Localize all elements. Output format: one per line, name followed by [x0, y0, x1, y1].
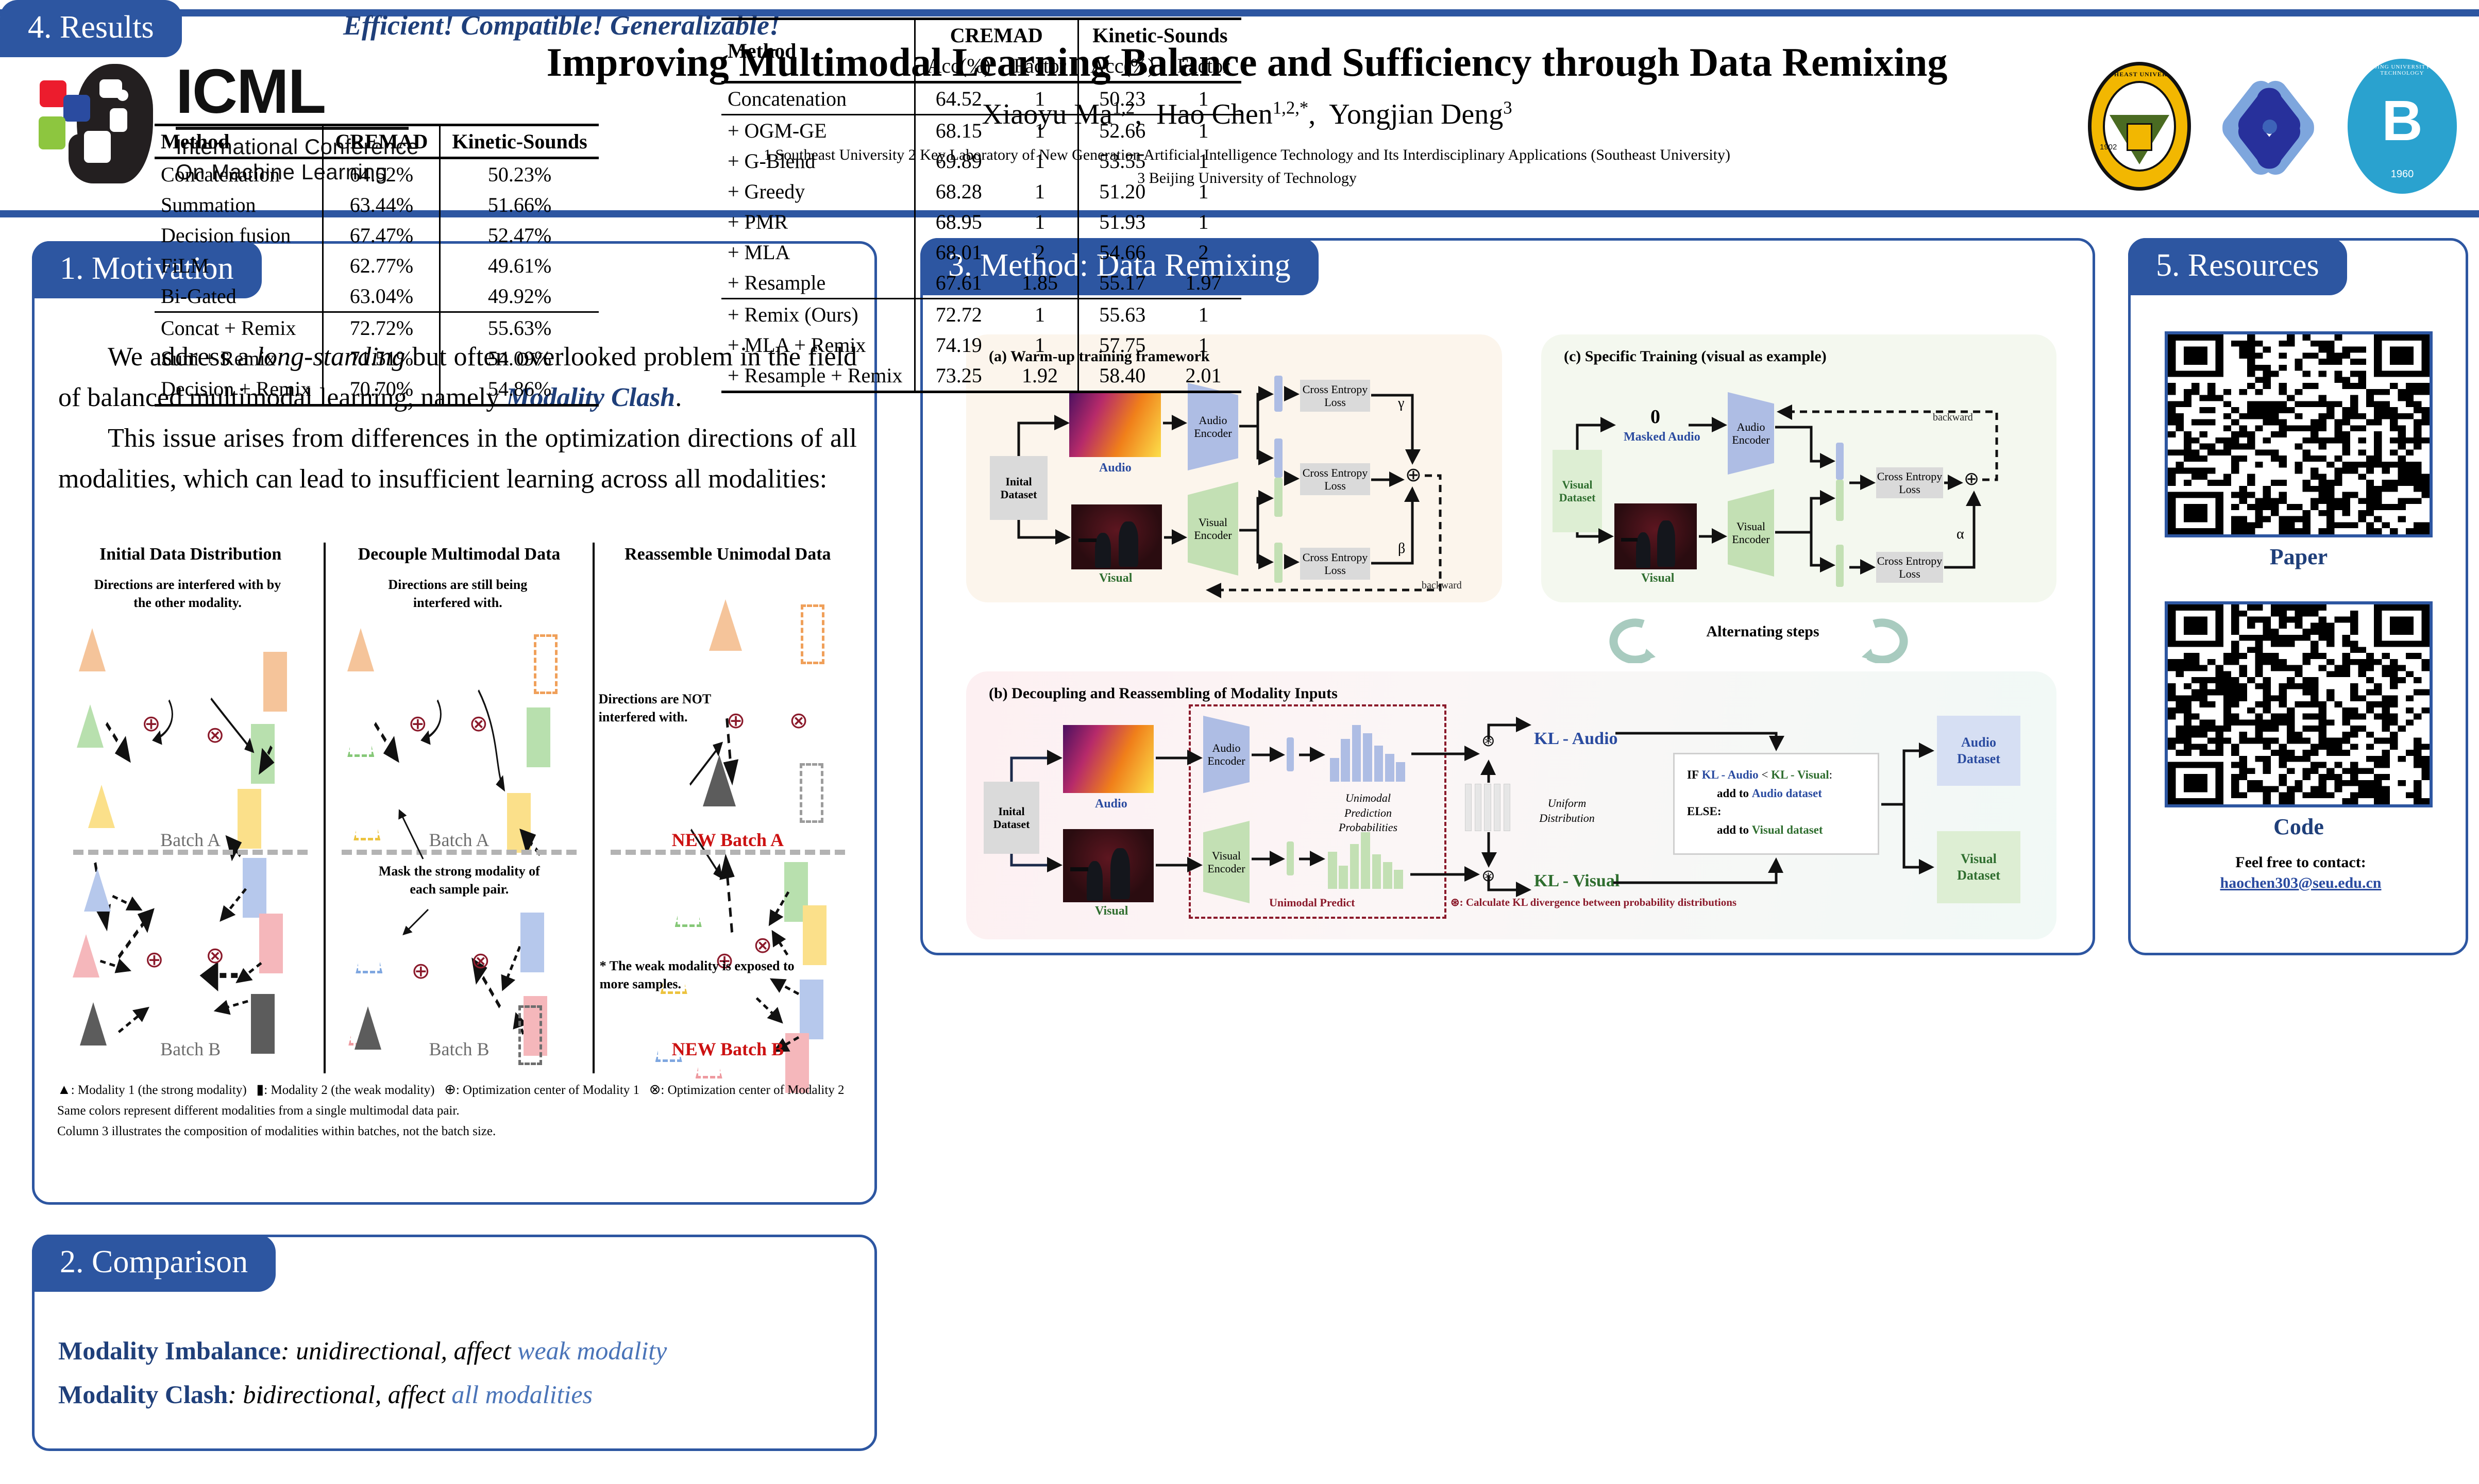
- diagram-b-kl-audio-label: KL - Audio: [1534, 729, 1618, 749]
- figure-column-header-3: Reassemble Unimodal Data: [595, 543, 861, 564]
- diagram-a-visual-encoder: Visual Encoder: [1188, 482, 1238, 576]
- histogram-bar: [1339, 866, 1348, 889]
- contact-block: Feel free to contact: haochen303@seu.edu…: [2151, 854, 2450, 892]
- table-row: Summation63.44%51.66%: [155, 190, 599, 220]
- diagram-b-kl-visual-label: KL - Visual: [1534, 871, 1620, 891]
- diagram-b-audio-spectrogram-image: [1063, 725, 1154, 793]
- diagram-a-loss-2: Cross Entropy Loss: [1300, 463, 1370, 495]
- table-row: + G-Blend69.89153.551: [721, 146, 1241, 176]
- diagram-b-audio-dataset: Audio Dataset: [1937, 716, 2020, 786]
- panel-resources: 5. Resources Paper Code Feel free to con…: [2128, 238, 2468, 955]
- diagram-c-alpha: α: [1957, 526, 1964, 543]
- panel-title-resources: 5. Resources: [2128, 238, 2347, 295]
- author-3: Yongjian Deng3: [1329, 98, 1512, 130]
- table-row: + PMR68.95151.931: [721, 207, 1241, 237]
- affiliations: 1 Southeast University 2 Key Laboratory …: [433, 143, 2061, 190]
- table2-subheader: Factor: [1002, 50, 1078, 82]
- panel-title-results: 4. Results: [0, 0, 182, 57]
- histogram-bar: [1383, 862, 1392, 889]
- legend-oplus-icon: ⊕: [444, 1082, 456, 1097]
- diagram-c-zero: 0: [1650, 406, 1660, 428]
- figure-note-3: Directions are NOT interfered with.: [599, 690, 717, 726]
- table1-header: CREMAD: [323, 125, 440, 158]
- uniform-bar: [1475, 784, 1481, 831]
- figure-batch-label-b2: Batch B: [326, 1038, 592, 1060]
- figure-legend-note-1: Same colors represent different modaliti…: [57, 1101, 861, 1121]
- figure-batch-label-a1: Batch A: [57, 829, 324, 851]
- diagram-a-visual-label: Visual: [1099, 571, 1132, 585]
- table-row: + Remix (Ours)72.72155.631: [721, 299, 1241, 330]
- table2-subheader: Acc(%): [1078, 50, 1166, 82]
- diagram-a-audio-encoder: Audio Encoder: [1188, 383, 1238, 470]
- table2-subheader: Acc(%): [915, 50, 1002, 82]
- affiliation-line-1: 1 Southeast University 2 Key Laboratory …: [433, 143, 2061, 166]
- diagram-b-visual-dataset: Visual Dataset: [1937, 831, 2020, 903]
- histogram-bar: [1330, 758, 1339, 782]
- legend-triangle-icon: ▲: [57, 1082, 71, 1097]
- panel-title-comparison: 2. Comparison: [32, 1235, 276, 1292]
- diagram-c-visual-label: Visual: [1641, 571, 1674, 585]
- diagram-a-backward-label: backward: [1422, 580, 1462, 592]
- histogram-bar: [1374, 746, 1384, 782]
- results-table-2: MethodCREMADKinetic-SoundsAcc(%)FactorAc…: [721, 18, 1241, 393]
- uniform-bar: [1484, 784, 1491, 831]
- motivation-paragraph-2: This issue arises from differences in th…: [58, 418, 857, 499]
- table1-header: Method: [155, 125, 323, 158]
- affiliation-line-2: 3 Beijing University of Technology: [433, 166, 2061, 190]
- table-row: Sum + Remix71.51%54.09%: [155, 343, 599, 374]
- histogram-bar: [1396, 762, 1405, 782]
- legend-otimes-icon: ⊗: [649, 1082, 661, 1097]
- kl-note-icon: ⊛: [1451, 896, 1460, 908]
- diagram-c-loss-1: Cross Entropy Loss: [1876, 467, 1943, 498]
- table1-header: Kinetic-Sounds: [440, 125, 599, 158]
- if-line-3: ELSE:: [1687, 802, 1865, 821]
- table2-group-header: CREMAD: [915, 19, 1078, 51]
- university-logos: SOUTHEAST UNIVERSITY 1902 BEIJING UNIVER…: [2077, 41, 2468, 211]
- results-table-1-wrapper: MethodCREMADKinetic-SoundsConcatenation6…: [155, 124, 599, 407]
- diagram-b-unimodal-predict-caption: Unimodal Predict: [1269, 896, 1355, 909]
- uniform-bar: [1494, 784, 1500, 831]
- diagram-b-uniform-caption: Uniform Distribution: [1521, 796, 1613, 825]
- diagram-c-audio-encoder: Audio Encoder: [1728, 392, 1774, 475]
- visual-photo-image: [1071, 504, 1162, 569]
- figure-legend-note-2: Column 3 illustrates the composition of …: [57, 1121, 861, 1142]
- if-line-4: add to Visual dataset: [1687, 821, 1865, 839]
- figure-note-3b: * The weak modality is exposed to more s…: [600, 957, 827, 993]
- figure-batch-label-b3: NEW Batch B: [595, 1038, 861, 1060]
- figure-column-header-1: Initial Data Distribution: [57, 543, 324, 564]
- histogram-bar: [1361, 832, 1370, 889]
- comparison-text: Modality Imbalance: unidirectional, affe…: [58, 1329, 862, 1416]
- diagram-specific-training: (c) Specific Training (visual as example…: [1541, 334, 2056, 602]
- figure-column-decouple: Decouple Multimodal Data Directions are …: [324, 543, 592, 1073]
- table-row: Bi-Gated63.04%49.92%: [155, 281, 599, 312]
- figure-column-header-2: Decouple Multimodal Data: [326, 543, 592, 564]
- table-row: + MLA68.01254.662: [721, 237, 1241, 267]
- table-row: FiLM62.77%49.61%: [155, 250, 599, 281]
- diagram-c-title: (c) Specific Training (visual as example…: [1564, 348, 1827, 365]
- audio-spectrogram-image: [1069, 391, 1161, 457]
- results-table-1: MethodCREMADKinetic-SoundsConcatenation6…: [155, 124, 599, 407]
- histogram-bar: [1385, 754, 1394, 782]
- diagram-a-loss-3: Cross Entropy Loss: [1300, 548, 1370, 580]
- diagram-a-beta: β: [1398, 541, 1405, 557]
- histogram-bar: [1363, 733, 1372, 782]
- diagram-b-audio-label: Audio: [1095, 797, 1127, 811]
- diagram-decoupling: (b) Decoupling and Reassembling of Modal…: [966, 671, 2056, 939]
- figure-note-1: Directions are interfered with by the ot…: [87, 576, 288, 612]
- table2-group-header: Kinetic-Sounds: [1078, 19, 1241, 51]
- legend-item-3: : Optimization center of Modality 1: [456, 1083, 639, 1097]
- legend-item-2: : Modality 2 (the weak modality): [264, 1083, 434, 1097]
- table-row: Concatenation64.52%50.23%: [155, 158, 599, 190]
- diagram-a-gamma: γ: [1398, 395, 1404, 412]
- diagram-b-title: (b) Decoupling and Reassembling of Modal…: [989, 685, 1338, 702]
- diagram-b-visual-encoder: Visual Encoder: [1203, 821, 1250, 903]
- table2-subheader: Factor: [1166, 50, 1241, 82]
- alternating-steps: Alternating steps: [1582, 616, 1943, 663]
- diagram-a-initial-dataset: Inital Dataset: [990, 456, 1048, 520]
- histogram-bar: [1328, 852, 1337, 889]
- diagram-c-loss-2: Cross Entropy Loss: [1876, 552, 1943, 583]
- if-line-2: add to Audio dataset: [1687, 784, 1865, 803]
- qr-code-label: Code: [2165, 814, 2433, 840]
- qr-bitmap: [2168, 334, 2430, 534]
- diagram-c-sum-icon: ⊕: [1964, 469, 1979, 488]
- diagram-a-audio-label: Audio: [1099, 461, 1132, 475]
- qr-code-repository[interactable]: [2165, 601, 2433, 807]
- icml-brain-icon: [39, 58, 167, 187]
- figure-divider-1: [73, 850, 308, 855]
- diagram-c-visual-encoder: Visual Encoder: [1728, 489, 1774, 577]
- paper-title: Improving Multimodal Learning Balance an…: [433, 40, 2061, 85]
- legend-rect-icon: ▮: [256, 1082, 264, 1097]
- contact-email-link[interactable]: haochen303@seu.edu.cn: [2151, 874, 2450, 892]
- legend-item-1: : Modality 1 (the strong modality): [71, 1083, 247, 1097]
- figure-note-2: Directions are still being interfered wi…: [365, 576, 550, 612]
- diagram-b-kl-note: ⊛: Calculate KL divergence between proba…: [1451, 896, 1736, 909]
- figure-note-2b: Mask the strong modality of each sample …: [369, 862, 549, 898]
- figure-column-reassemble: Reassemble Unimodal Data Directions are …: [593, 543, 861, 1073]
- diagram-b-unimodal-caption: Unimodal Prediction Probabilities: [1317, 791, 1420, 835]
- uniform-bar: [1465, 784, 1472, 831]
- alternating-steps-label: Alternating steps: [1582, 623, 1943, 640]
- diagram-c-backward-label: backward: [1933, 412, 1973, 424]
- diagram-b-audio-encoder: Audio Encoder: [1203, 716, 1250, 793]
- bjut-year: 1960: [2348, 168, 2457, 180]
- table-row: + MLA + Remix74.19157.751: [721, 330, 1241, 360]
- motivation-figure: Initial Data Distribution Directions are…: [57, 543, 861, 1187]
- comparison-row-2: Modality Clash: bidirectional, affect al…: [58, 1373, 862, 1416]
- diagram-c-visual-dataset: Visual Dataset: [1553, 450, 1602, 532]
- diagram-b-kl-op-icon-1: ⊛: [1481, 732, 1495, 749]
- qr-bitmap: [2168, 604, 2430, 804]
- figure-batch-label-a3: NEW Batch A: [595, 829, 861, 851]
- diagram-b-uniform-distribution-bars: [1464, 784, 1512, 831]
- comparison-row-1: Modality Imbalance: unidirectional, affe…: [58, 1329, 862, 1373]
- diagram-b-visual-label: Visual: [1095, 904, 1128, 918]
- uniform-bar: [1504, 784, 1510, 831]
- table-row: + Resample67.611.8555.171.97: [721, 267, 1241, 299]
- table-row: + Greedy68.28151.201: [721, 176, 1241, 207]
- qr-code-paper[interactable]: [2165, 331, 2433, 537]
- author-list: Xiaoyu Ma1,2, Hao Chen1,2,*, Yongjian De…: [433, 98, 2061, 131]
- table-row: Decision fusion67.47%52.47%: [155, 220, 599, 250]
- table2-method-header: Method: [721, 19, 915, 82]
- if-line-1: IF KL - Audio < KL - Visual:: [1687, 766, 1865, 784]
- diagram-c-masked-audio-label: Masked Audio: [1624, 430, 1700, 444]
- histogram-bar: [1341, 739, 1350, 782]
- diagram-c-visual-photo-image: [1614, 503, 1697, 569]
- figure-column-initial: Initial Data Distribution Directions are…: [57, 543, 324, 1073]
- diagram-a-loss-1: Cross Entropy Loss: [1300, 380, 1370, 412]
- contact-prompt: Feel free to contact:: [2151, 854, 2450, 871]
- results-table-2-wrapper: MethodCREMADKinetic-SoundsAcc(%)FactorAc…: [721, 18, 1241, 393]
- poster-root: ICML International Conference On Machine…: [0, 0, 2479, 1484]
- icml-acronym: ICML: [176, 60, 419, 123]
- panel-comparison: 2. Comparison Modality Imbalance: unidir…: [32, 1235, 877, 1451]
- seal-year: 1902: [2100, 143, 2117, 151]
- figure-batch-label-a2: Batch A: [326, 829, 592, 851]
- diagram-b-initial-dataset: Inital Dataset: [984, 782, 1039, 854]
- qr-paper-label: Paper: [2165, 544, 2433, 570]
- diagram-b-histogram-audio: [1329, 725, 1406, 782]
- table-row: + OGM-GE68.15152.661: [721, 115, 1241, 146]
- figure-divider-3: [611, 850, 845, 855]
- figure-legend: ▲: Modality 1 (the strong modality) ▮: M…: [57, 1078, 861, 1142]
- table-row: Concat + Remix72.72%55.63%: [155, 312, 599, 344]
- table-row: + Resample + Remix73.251.9258.402.01: [721, 360, 1241, 392]
- seal-ring-text: SOUTHEAST UNIVERSITY: [2092, 71, 2187, 78]
- diagram-b-histogram-visual: [1327, 832, 1404, 889]
- title-block: Improving Multimodal Learning Balance an…: [433, 40, 2061, 190]
- figure-batch-label-b1: Batch B: [57, 1038, 324, 1060]
- southeast-university-seal-icon: SOUTHEAST UNIVERSITY 1902: [2088, 62, 2191, 191]
- figure-legend-row-1: ▲: Modality 1 (the strong modality) ▮: M…: [57, 1078, 861, 1101]
- diagram-b-kl-op-icon-2: ⊛: [1481, 867, 1495, 884]
- figure-columns: Initial Data Distribution Directions are…: [57, 543, 861, 1073]
- diagram-b-visual-photo-image: [1063, 829, 1154, 902]
- bjut-ring-text: BEIJING UNIVERSITY OF TECHNOLOGY: [2348, 64, 2457, 76]
- histogram-bar: [1352, 725, 1361, 782]
- legend-item-4: : Optimization center of Modality 2: [661, 1083, 844, 1097]
- diagram-b-if-else-box: IF KL - Audio < KL - Visual: add to Audi…: [1673, 753, 1879, 855]
- table-row: Decision + Remix70.70%54.86%: [155, 374, 599, 406]
- bjut-letter: B: [2382, 93, 2422, 149]
- histogram-bar: [1372, 854, 1381, 889]
- figure-divider-2: [342, 850, 576, 855]
- histogram-bar: [1394, 870, 1403, 889]
- key-laboratory-x-logo-icon: [2215, 72, 2323, 180]
- bjut-seal-icon: BEIJING UNIVERSITY OF TECHNOLOGY B 1960: [2348, 59, 2457, 194]
- table-row: Concatenation64.52150.231: [721, 82, 1241, 115]
- diagram-a-sum-icon: ⊕: [1405, 465, 1422, 485]
- histogram-bar: [1350, 844, 1359, 889]
